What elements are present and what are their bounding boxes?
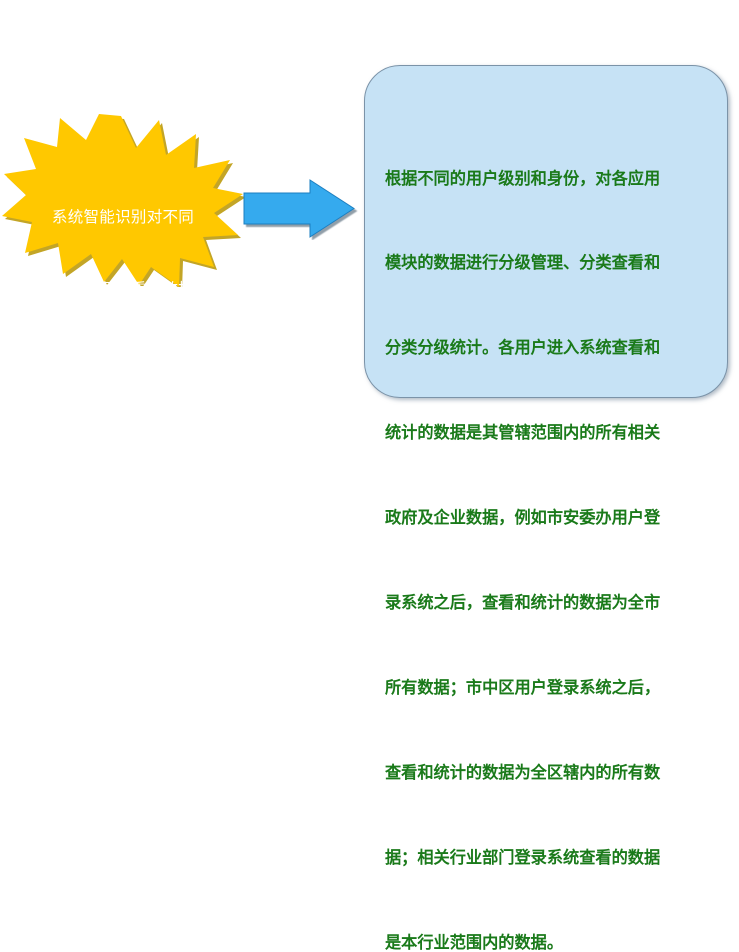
description-panel[interactable]: 根据不同的用户级别和身份，对各应用 模块的数据进行分级管理、分类查看和 分类分级… (364, 65, 728, 398)
description-line-6: 录系统之后，查看和统计的数据为全市 (385, 589, 717, 617)
description-line-7: 所有数据；市中区用户登录系统之后， (385, 674, 717, 702)
description-text: 根据不同的用户级别和身份，对各应用 模块的数据进行分级管理、分类查看和 分类分级… (385, 108, 717, 952)
description-line-4: 统计的数据是其管辖范围内的所有相关 (385, 419, 717, 447)
description-line-9: 据；相关行业部门登录系统查看的数据 (385, 844, 717, 872)
right-block-arrow[interactable] (242, 178, 360, 240)
starburst-line-3: 进行过滤和筛选 (0, 349, 246, 373)
starburst-shape (0, 112, 246, 287)
description-line-8: 查看和统计的数据为全区辖内的所有数 (385, 759, 717, 787)
right-arrow-icon (242, 178, 360, 240)
diagram-canvas: 系统智能识别对不同 用户登录查看的数据 进行过滤和筛选 根据不同的用户级别和身份… (0, 0, 739, 476)
description-line-1: 根据不同的用户级别和身份，对各应用 (385, 165, 717, 193)
description-line-5: 政府及企业数据，例如市安委办用户登 (385, 504, 717, 532)
description-line-10: 是本行业范围内的数据。 (385, 929, 717, 952)
description-line-2: 模块的数据进行分级管理、分类查看和 (385, 249, 717, 277)
description-line-3: 分类分级统计。各用户进入系统查看和 (385, 334, 717, 362)
starburst-callout[interactable]: 系统智能识别对不同 用户登录查看的数据 进行过滤和筛选 (0, 112, 246, 287)
